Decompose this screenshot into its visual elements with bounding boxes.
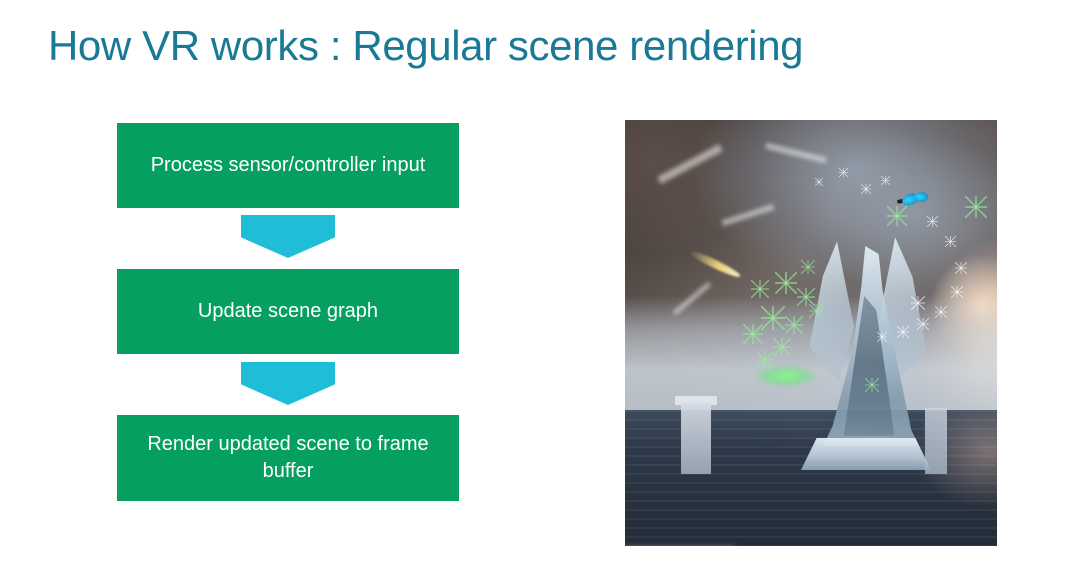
flow-step-label: Process sensor/controller input [151, 152, 426, 179]
flow-step-process-input[interactable]: Process sensor/controller input [117, 123, 459, 208]
flow-step-update-scene-graph[interactable]: Update scene graph [117, 269, 459, 354]
flow-step-label: Render updated scene to frame buffer [129, 431, 447, 485]
vr-scene-image [625, 120, 997, 546]
page-title: How VR works : Regular scene rendering [48, 22, 803, 70]
down-arrow-icon [241, 215, 335, 258]
scene-haze [625, 120, 997, 546]
rendering-pipeline-flowchart: Process sensor/controller input Update s… [117, 123, 459, 501]
flow-step-render-to-frame-buffer[interactable]: Render updated scene to frame buffer [117, 415, 459, 501]
down-arrow-icon [241, 362, 335, 405]
flow-step-label: Update scene graph [198, 298, 378, 325]
